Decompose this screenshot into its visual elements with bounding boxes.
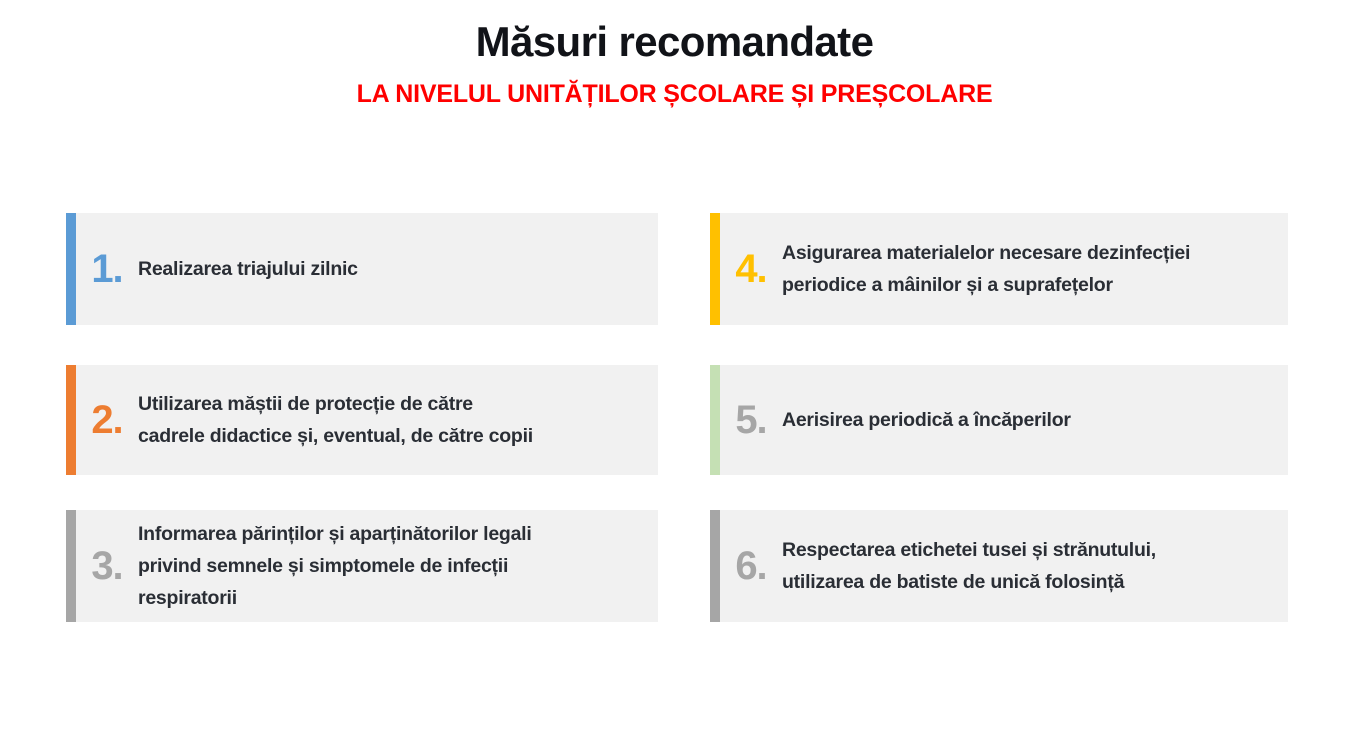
- measure-text-3: Informarea părinților și aparținătorilor…: [138, 518, 658, 614]
- measure-text-line: utilizarea de batiste de unică folosință: [782, 566, 1288, 598]
- measure-card-6: 6. Respectarea etichetei tusei și strănu…: [710, 510, 1288, 622]
- measure-text-line: cadrele didactice și, eventual, de către…: [138, 420, 658, 452]
- page-header: Măsuri recomandate LA NIVELUL UNITĂȚILOR…: [0, 0, 1349, 109]
- accent-bar-1: [66, 213, 76, 325]
- measure-number-6: 6.: [720, 546, 782, 586]
- measure-card-3: 3. Informarea părinților și aparținători…: [66, 510, 658, 622]
- measure-card-5: 5. Aerisirea periodică a încăperilor: [710, 365, 1288, 475]
- measure-number-2: 2.: [76, 400, 138, 440]
- measure-text-4: Asigurarea materialelor necesare dezinfe…: [782, 237, 1288, 301]
- measure-text-1: Realizarea triajului zilnic: [138, 253, 658, 285]
- accent-bar-4: [710, 213, 720, 325]
- measure-number-4: 4.: [720, 249, 782, 289]
- card-body-1: 1. Realizarea triajului zilnic: [66, 249, 658, 289]
- measure-card-2: 2. Utilizarea măștii de protecție de căt…: [66, 365, 658, 475]
- infographic-page: Măsuri recomandate LA NIVELUL UNITĂȚILOR…: [0, 0, 1349, 743]
- measure-text-line: Aerisirea periodică a încăperilor: [782, 404, 1288, 436]
- card-body-5: 5. Aerisirea periodică a încăperilor: [710, 400, 1288, 440]
- accent-bar-3: [66, 510, 76, 622]
- measure-text-line: Asigurarea materialelor necesare dezinfe…: [782, 237, 1288, 269]
- measure-text-5: Aerisirea periodică a încăperilor: [782, 404, 1288, 436]
- card-body-3: 3. Informarea părinților și aparținători…: [66, 518, 658, 614]
- measure-text-6: Respectarea etichetei tusei și strănutul…: [782, 534, 1288, 598]
- accent-bar-5: [710, 365, 720, 475]
- measure-text-line: Realizarea triajului zilnic: [138, 253, 658, 285]
- measure-card-4: 4. Asigurarea materialelor necesare dezi…: [710, 213, 1288, 325]
- page-subtitle: LA NIVELUL UNITĂȚILOR ȘCOLARE ȘI PREȘCOL…: [0, 67, 1349, 109]
- measure-number-3: 3.: [76, 546, 138, 586]
- accent-bar-2: [66, 365, 76, 475]
- measure-number-5: 5.: [720, 400, 782, 440]
- measure-text-line: periodice a mâinilor și a suprafețelor: [782, 269, 1288, 301]
- measure-text-line: Utilizarea măștii de protecție de către: [138, 388, 658, 420]
- measure-text-line: Respectarea etichetei tusei și strănutul…: [782, 534, 1288, 566]
- measure-number-1: 1.: [76, 249, 138, 289]
- page-title: Măsuri recomandate: [0, 0, 1349, 67]
- card-body-2: 2. Utilizarea măștii de protecție de căt…: [66, 388, 658, 452]
- measure-text-line: Informarea părinților și aparținătorilor…: [138, 518, 658, 550]
- measure-text-line: privind semnele și simptomele de infecți…: [138, 550, 658, 582]
- measure-card-1: 1. Realizarea triajului zilnic: [66, 213, 658, 325]
- measure-text-2: Utilizarea măștii de protecție de către …: [138, 388, 658, 452]
- card-body-6: 6. Respectarea etichetei tusei și strănu…: [710, 534, 1288, 598]
- measure-text-line: respiratorii: [138, 582, 658, 614]
- card-body-4: 4. Asigurarea materialelor necesare dezi…: [710, 237, 1288, 301]
- accent-bar-6: [710, 510, 720, 622]
